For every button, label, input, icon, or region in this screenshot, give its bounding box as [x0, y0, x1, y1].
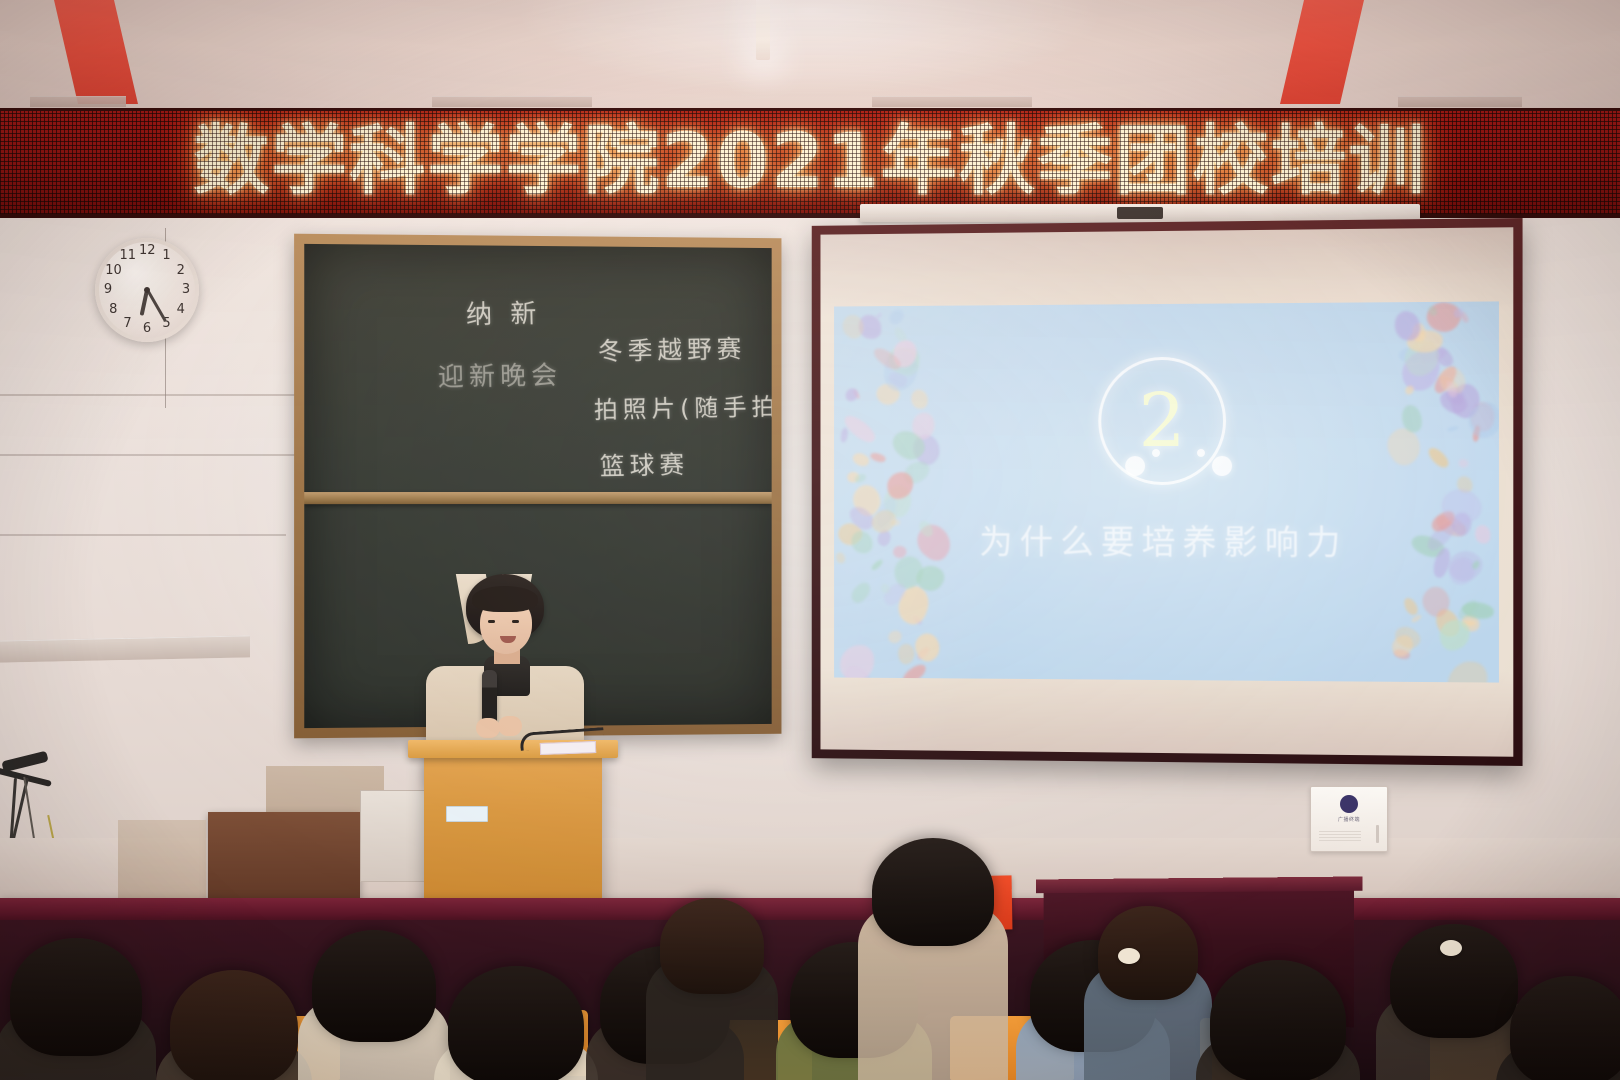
audience-member-head	[312, 930, 436, 1042]
clock-minute-hand	[146, 289, 167, 322]
floral-petal	[1447, 425, 1459, 432]
floral-petal	[886, 307, 906, 327]
clock-numeral: 12	[139, 244, 155, 258]
blackboard-chalk-rail	[304, 492, 771, 504]
projection-screen-canvas: 2 为什么要培养影响力	[820, 227, 1513, 756]
floral-petal	[1444, 659, 1488, 683]
projection-screen-frame: 2 为什么要培养影响力	[812, 218, 1523, 766]
chalk-writing: 篮球赛	[599, 445, 689, 483]
audience-member-head	[1510, 976, 1620, 1080]
floral-petal	[1426, 444, 1451, 470]
presentation-slide: 2 为什么要培养影响力	[834, 301, 1499, 682]
wall-seam	[0, 534, 286, 536]
hair-tie	[1118, 948, 1140, 964]
floral-petal	[1457, 457, 1469, 469]
clock-numeral: 9	[100, 283, 116, 297]
audience-member-head	[448, 966, 584, 1080]
clock-numeral: 1	[159, 249, 175, 263]
ceiling-vent	[1398, 96, 1522, 107]
clock-numeral: 8	[105, 303, 121, 317]
slide-number: 2	[1139, 384, 1186, 458]
audience-member-head	[660, 898, 764, 994]
chalk-writing: 迎新晚会	[437, 355, 562, 394]
clock-numeral: 5	[159, 317, 175, 331]
slide-dot	[1152, 449, 1160, 457]
audience-member-head	[170, 970, 298, 1080]
fluorescent-tube-light	[756, 0, 770, 60]
presenter-eye-left	[488, 620, 495, 623]
audience	[0, 820, 1620, 1080]
presenter-eye-right	[512, 620, 519, 623]
floral-petal	[900, 662, 929, 683]
floral-decoration-left	[834, 306, 941, 678]
led-banner: 数学科学学院2021年秋季团校培训	[0, 108, 1620, 218]
clock-numeral: 2	[173, 264, 189, 278]
slide-number-ring: 2	[1098, 356, 1226, 484]
audience-member-head	[872, 838, 994, 946]
screen-roller-box	[1117, 207, 1163, 219]
floral-petal	[909, 629, 945, 666]
floral-petal	[851, 451, 871, 470]
lecture-hall-photo: 数学科学学院2021年秋季团校培训 121234567891011 纳 新迎新晚…	[0, 0, 1620, 1080]
floral-petal	[1394, 311, 1420, 341]
wall-seam	[0, 454, 300, 456]
school-emblem-icon	[1340, 795, 1358, 813]
audience-member-head	[1098, 906, 1198, 1000]
clock-center-pin	[144, 287, 150, 293]
ceiling-vent	[30, 96, 126, 107]
floral-petal	[869, 451, 886, 465]
chalk-writing: 冬季越野赛	[597, 330, 746, 368]
floral-petal	[848, 579, 875, 606]
slide-caption: 为什么要培养影响力	[834, 514, 1499, 564]
clock-numeral: 11	[120, 249, 136, 263]
clock-numeral: 3	[178, 283, 194, 297]
floral-petal	[839, 427, 849, 443]
presenter-hand-right	[498, 716, 522, 736]
mic-stand-head	[1, 751, 48, 773]
presenter-hand-left	[476, 718, 500, 738]
red-ribbon-left	[54, 0, 138, 104]
floral-petal	[887, 629, 903, 645]
chalk-writing: 纳 新	[466, 293, 542, 331]
ceiling-vent	[432, 96, 592, 107]
floral-petal	[1403, 596, 1420, 617]
audience-member-head	[1210, 960, 1346, 1080]
wall-clock: 121234567891011	[95, 238, 199, 342]
slide-dot	[1212, 456, 1232, 476]
floral-petal	[874, 312, 883, 320]
floral-petal	[880, 582, 891, 594]
clock-numeral: 10	[105, 264, 121, 278]
led-banner-text: 数学科学学院2021年秋季团校培训	[193, 123, 1427, 203]
clock-numeral: 7	[120, 317, 136, 331]
slide-dot	[1197, 449, 1205, 457]
floral-petal	[1380, 422, 1427, 470]
ceiling	[0, 0, 1620, 112]
floral-petal	[845, 387, 858, 402]
presenter-bangs	[472, 586, 538, 612]
clock-numeral: 4	[173, 303, 189, 317]
floral-decoration-right	[1387, 301, 1499, 682]
clock-numeral: 6	[139, 322, 155, 336]
hair-tie	[1440, 940, 1462, 956]
ceiling-vent	[872, 96, 1032, 107]
audience-member-head	[10, 938, 142, 1056]
floral-petal	[910, 389, 929, 410]
chalk-writing: 拍照片(随手拍)	[593, 387, 771, 425]
red-ribbon-right	[1280, 0, 1364, 104]
